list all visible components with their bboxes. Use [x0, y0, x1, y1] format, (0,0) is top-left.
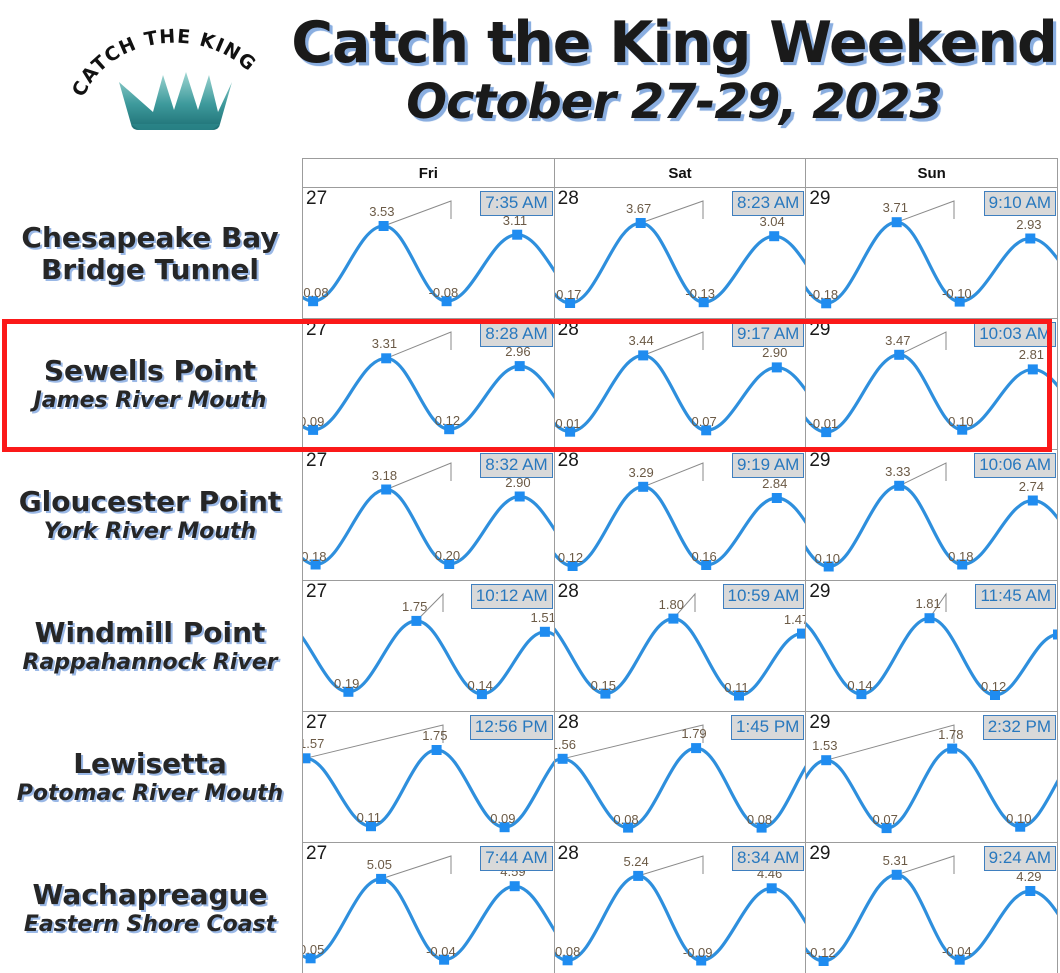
king-tide-time-badge[interactable]: 11:45 AM	[975, 584, 1056, 609]
station-name: Lewisetta	[73, 748, 227, 780]
king-tide-time-badge[interactable]: 10:06 AM	[974, 453, 1056, 478]
low-tide-value: -0.04	[942, 944, 972, 959]
king-tide-time-badge[interactable]: 7:44 AM	[480, 846, 552, 871]
tide-cell[interactable]: 270.093.310.122.968:28 AM	[303, 319, 555, 450]
station-sublabel: York River Mouth	[44, 518, 256, 546]
king-tide-time-badge[interactable]: 2:32 PM	[983, 715, 1056, 740]
station-sublabel: Potomac River Mouth	[17, 780, 283, 808]
tide-curve-path	[806, 618, 1058, 695]
low-tide-value: -0.10	[942, 286, 972, 301]
day-number: 29	[809, 581, 830, 603]
station-row: 27-0.083.53-0.083.117:35 AM28-0.173.67-0…	[303, 188, 1058, 319]
low-tide-value: 0.12	[435, 413, 460, 428]
low-tide-value: 0.01	[555, 416, 580, 431]
low-tide-value: 0.16	[691, 549, 716, 564]
king-tide-time-badge[interactable]: 8:34 AM	[732, 846, 804, 871]
low-tide-value: 0.08	[613, 812, 638, 827]
high-tide-marker[interactable]	[381, 485, 391, 495]
high-tide-marker[interactable]	[769, 231, 779, 241]
day-header-sat: Sat	[555, 159, 807, 188]
low-tide-value: -0.08	[555, 944, 581, 959]
king-tide-time-badge[interactable]: 1:45 PM	[731, 715, 804, 740]
high-tide-marker[interactable]	[691, 743, 701, 753]
high-tide-marker[interactable]	[892, 217, 902, 227]
day-number: 29	[809, 188, 830, 210]
tide-cell[interactable]: 29-0.013.470.102.8110:03 AM	[806, 319, 1058, 450]
station-label: Gloucester PointYork River Mouth	[0, 450, 300, 581]
station-name-line2: Bridge Tunnel	[41, 254, 259, 286]
tide-cell[interactable]: 270.055.05-0.044.597:44 AM	[303, 843, 555, 973]
station-label-column: Chesapeake BayBridge TunnelSewells Point…	[0, 188, 300, 973]
low-tide-value: -0.17	[555, 287, 582, 302]
low-tide-value: 0.18	[948, 549, 973, 564]
station-label: Chesapeake BayBridge Tunnel	[0, 188, 300, 319]
station-name: Windmill Point	[35, 617, 266, 649]
high-tide-value: 1.51	[531, 610, 555, 625]
high-tide-marker[interactable]	[822, 755, 832, 765]
day-number: 28	[558, 188, 579, 210]
tide-cell[interactable]: 28-0.173.67-0.133.048:23 AM	[555, 188, 807, 319]
tide-curve-path	[806, 222, 1058, 303]
tide-curve-path	[555, 355, 807, 431]
high-tide-value: 2.74	[1019, 479, 1044, 494]
low-tide-value: 0.15	[591, 678, 616, 693]
king-tide-time-badge[interactable]: 10:12 AM	[471, 584, 553, 609]
low-tide-value: 0.19	[334, 676, 359, 691]
king-tide-time-badge[interactable]: 10:59 AM	[723, 584, 805, 609]
high-tide-marker[interactable]	[1053, 630, 1058, 640]
high-tide-value: 2.90	[762, 345, 787, 360]
low-tide-value: 0.14	[847, 678, 872, 693]
king-tide-time-badge[interactable]: 9:19 AM	[732, 453, 804, 478]
king-tide-time-badge[interactable]: 9:24 AM	[984, 846, 1056, 871]
low-tide-value: 0.14	[468, 678, 493, 693]
high-tide-marker[interactable]	[948, 744, 958, 754]
king-tide-time-badge[interactable]: 9:17 AM	[732, 322, 804, 347]
low-tide-value: -0.12	[806, 945, 835, 960]
low-tide-value: 0.18	[303, 549, 327, 564]
low-tide-value: 0.07	[873, 812, 898, 827]
high-tide-marker[interactable]	[766, 883, 776, 893]
high-tide-value: 3.29	[628, 465, 653, 480]
high-tide-marker[interactable]	[1028, 364, 1038, 374]
king-tide-time-badge[interactable]: 8:23 AM	[732, 191, 804, 216]
day-number: 28	[558, 712, 579, 734]
high-tide-marker[interactable]	[925, 613, 935, 623]
tide-cell[interactable]: 27-0.083.53-0.083.117:35 AM	[303, 188, 555, 319]
high-tide-value: 2.81	[1019, 347, 1044, 362]
high-tide-marker[interactable]	[432, 745, 442, 755]
king-tide-time-badge[interactable]: 7:35 AM	[480, 191, 552, 216]
page-subtitle: October 27-29, 2023	[290, 74, 1058, 130]
high-tide-marker[interactable]	[515, 492, 525, 502]
high-tide-marker[interactable]	[515, 361, 525, 371]
high-tide-value: 1.78	[938, 727, 963, 742]
station-row: 271.570.111.750.0912:56 PM281.560.081.79…	[303, 712, 1058, 843]
high-tide-marker[interactable]	[638, 482, 648, 492]
day-header-fri: Fri	[303, 159, 555, 188]
high-tide-marker[interactable]	[1028, 496, 1038, 506]
day-number: 27	[306, 581, 327, 603]
high-tide-marker[interactable]	[303, 753, 311, 763]
high-tide-value: 1.79	[681, 726, 706, 741]
high-tide-value: 5.05	[367, 857, 392, 872]
station-label: Windmill PointRappahannock River	[0, 581, 300, 712]
low-tide-value: -0.01	[809, 416, 839, 431]
station-sublabel: Rappahannock River	[23, 649, 278, 677]
day-number: 27	[306, 319, 327, 341]
low-tide-value: 0.12	[558, 550, 583, 565]
high-tide-marker[interactable]	[895, 350, 905, 360]
high-tide-marker[interactable]	[895, 481, 905, 491]
high-tide-value: 1.81	[915, 596, 940, 611]
tide-cell[interactable]: 291.530.071.780.102:32 PM	[806, 712, 1058, 843]
tide-curve-path	[806, 875, 1058, 961]
tide-cell[interactable]: 270.183.180.202.908:32 AM	[303, 450, 555, 581]
high-tide-value: 1.75	[422, 728, 447, 743]
low-tide-value: 0.20	[435, 548, 460, 563]
high-tide-value: 1.75	[402, 599, 427, 614]
high-tide-value: 3.44	[628, 333, 653, 348]
low-tide-value: 0.07	[691, 414, 716, 429]
high-tide-marker[interactable]	[638, 350, 648, 360]
tide-cell[interactable]: 290.103.330.182.7410:06 AM	[806, 450, 1058, 581]
station-name: Wachapreague	[33, 879, 268, 911]
high-tide-value: 1.80	[659, 597, 684, 612]
page-title: Catch the King Weekend	[290, 12, 1058, 74]
low-tide-value: 0.09	[490, 811, 515, 826]
high-tide-marker[interactable]	[510, 881, 520, 891]
tide-curve-path	[806, 486, 1058, 567]
station-row: 270.093.310.122.968:28 AM280.013.440.072…	[303, 319, 1058, 450]
station-row: 270.183.180.202.908:32 AM280.123.290.162…	[303, 450, 1058, 581]
station-row: 270.191.750.141.5110:12 AM280.151.800.11…	[303, 581, 1058, 712]
low-tide-value: 0.11	[357, 810, 381, 825]
tide-cell[interactable]: 280.151.800.111.4710:59 AM	[555, 581, 807, 712]
day-number: 29	[809, 319, 830, 341]
station-label: WachapreagueEastern Shore Coast	[0, 843, 300, 973]
day-number: 27	[306, 712, 327, 734]
king-tide-time-badge[interactable]: 12:56 PM	[470, 715, 553, 740]
low-tide-value: -0.04	[426, 944, 456, 959]
day-number: 27	[306, 188, 327, 210]
station-sublabel: Eastern Shore Coast	[24, 911, 276, 939]
king-tide-leader-line	[827, 725, 955, 760]
low-tide-value: 0.11	[724, 680, 748, 695]
king-tide-time-badge[interactable]: 8:32 AM	[480, 453, 552, 478]
tide-cell[interactable]: 270.191.750.141.5110:12 AM	[303, 581, 555, 712]
tide-curve-path	[555, 223, 807, 303]
tide-cell[interactable]: 271.570.111.750.0912:56 PM	[303, 712, 555, 843]
day-number: 28	[558, 319, 579, 341]
day-number: 28	[558, 581, 579, 603]
high-tide-value: 5.24	[623, 854, 648, 869]
high-tide-value: 1.56	[555, 737, 576, 752]
high-tide-value: 2.84	[762, 476, 787, 491]
tide-cell[interactable]: 28-0.085.24-0.094.468:34 AM	[555, 843, 807, 973]
day-number: 29	[809, 712, 830, 734]
catch-the-king-logo: CATCH THE KING	[62, 20, 284, 145]
high-tide-value: 3.71	[883, 200, 908, 215]
high-tide-marker[interactable]	[540, 627, 550, 637]
high-tide-value: 3.53	[369, 204, 394, 219]
station-name: Gloucester Point	[19, 486, 282, 518]
station-label: Sewells PointJames River Mouth	[0, 319, 300, 450]
high-tide-marker[interactable]	[376, 874, 386, 884]
high-tide-marker[interactable]	[771, 493, 781, 503]
day-number: 28	[558, 843, 579, 865]
day-number: 27	[306, 843, 327, 865]
high-tide-value: 3.47	[885, 333, 910, 348]
day-header-sun: Sun	[806, 159, 1058, 188]
tide-cell[interactable]: 280.013.440.072.909:17 AM	[555, 319, 807, 450]
low-tide-value: 0.12	[981, 679, 1006, 694]
king-tide-time-badge[interactable]: 8:28 AM	[480, 322, 552, 347]
low-tide-value: 0.05	[303, 942, 324, 957]
tide-curve-path	[555, 487, 807, 566]
low-tide-value: -0.09	[683, 945, 713, 960]
tide-chart-page: CATCH THE KING Catch the King Weekend Oc…	[0, 0, 1060, 973]
high-tide-marker[interactable]	[512, 230, 522, 240]
high-tide-value: 4.29	[1016, 869, 1041, 884]
low-tide-value: -0.08	[303, 285, 329, 300]
high-tide-marker[interactable]	[557, 754, 567, 764]
high-tide-value: 5.31	[883, 853, 908, 868]
low-tide-value: -0.08	[429, 285, 459, 300]
tide-curve-path	[303, 750, 555, 827]
king-tide-time-badge[interactable]: 10:03 AM	[974, 322, 1056, 347]
station-name: Chesapeake Bay	[21, 222, 278, 254]
high-tide-value: 3.31	[372, 336, 397, 351]
day-number: 29	[809, 450, 830, 472]
high-tide-marker[interactable]	[411, 616, 421, 626]
high-tide-value: 3.33	[885, 464, 910, 479]
high-tide-marker[interactable]	[668, 614, 678, 624]
station-row: 270.055.05-0.044.597:44 AM28-0.085.24-0.…	[303, 843, 1058, 973]
day-number: 27	[306, 450, 327, 472]
high-tide-marker[interactable]	[892, 870, 902, 880]
tide-grid: FriSatSun 27-0.083.53-0.083.117:35 AM28-…	[302, 158, 1058, 973]
tide-cell[interactable]: 29-0.125.31-0.044.299:24 AM	[806, 843, 1058, 973]
title-block: Catch the King Weekend October 27-29, 20…	[290, 12, 1058, 130]
high-tide-marker[interactable]	[381, 353, 391, 363]
high-tide-marker[interactable]	[635, 218, 645, 228]
page-header: CATCH THE KING Catch the King Weekend Oc…	[0, 0, 1060, 152]
king-tide-time-badge[interactable]: 9:10 AM	[984, 191, 1056, 216]
day-number: 28	[558, 450, 579, 472]
low-tide-value: 0.10	[815, 551, 840, 566]
tide-curve-path	[806, 355, 1058, 432]
high-tide-value: 3.67	[626, 201, 651, 216]
high-tide-marker[interactable]	[1026, 234, 1036, 244]
high-tide-value: 2.93	[1016, 217, 1041, 232]
low-tide-value: 0.10	[1006, 811, 1031, 826]
day-number: 29	[809, 843, 830, 865]
low-tide-value: -0.13	[685, 286, 715, 301]
low-tide-value: -0.18	[809, 287, 839, 302]
station-label: LewisettaPotomac River Mouth	[0, 712, 300, 843]
high-tide-value: 1.57	[303, 736, 324, 751]
high-tide-value: 1.53	[812, 738, 837, 753]
low-tide-value: 0.08	[747, 812, 772, 827]
low-tide-value: 0.09	[303, 414, 324, 429]
day-header-row: FriSatSun	[303, 159, 1058, 188]
high-tide-marker[interactable]	[379, 221, 389, 231]
high-tide-value: 3.04	[759, 214, 784, 229]
tide-cell[interactable]: 29-0.183.71-0.102.939:10 AM	[806, 188, 1058, 319]
low-tide-value: 0.10	[948, 414, 973, 429]
tide-grid-body: 27-0.083.53-0.083.117:35 AM28-0.173.67-0…	[303, 188, 1058, 973]
tide-cell[interactable]: 281.560.081.790.081:45 PM	[555, 712, 807, 843]
high-tide-marker[interactable]	[1026, 886, 1036, 896]
high-tide-marker[interactable]	[633, 871, 643, 881]
high-tide-value: 3.18	[372, 468, 397, 483]
station-name: Sewells Point	[44, 355, 256, 387]
tide-cell[interactable]: 290.141.810.1211:45 AM	[806, 581, 1058, 712]
station-sublabel: James River Mouth	[34, 387, 267, 415]
high-tide-value: 1.47	[784, 612, 806, 627]
high-tide-marker[interactable]	[771, 362, 781, 372]
high-tide-marker[interactable]	[797, 629, 807, 639]
tide-cell[interactable]: 280.123.290.162.849:19 AM	[555, 450, 807, 581]
